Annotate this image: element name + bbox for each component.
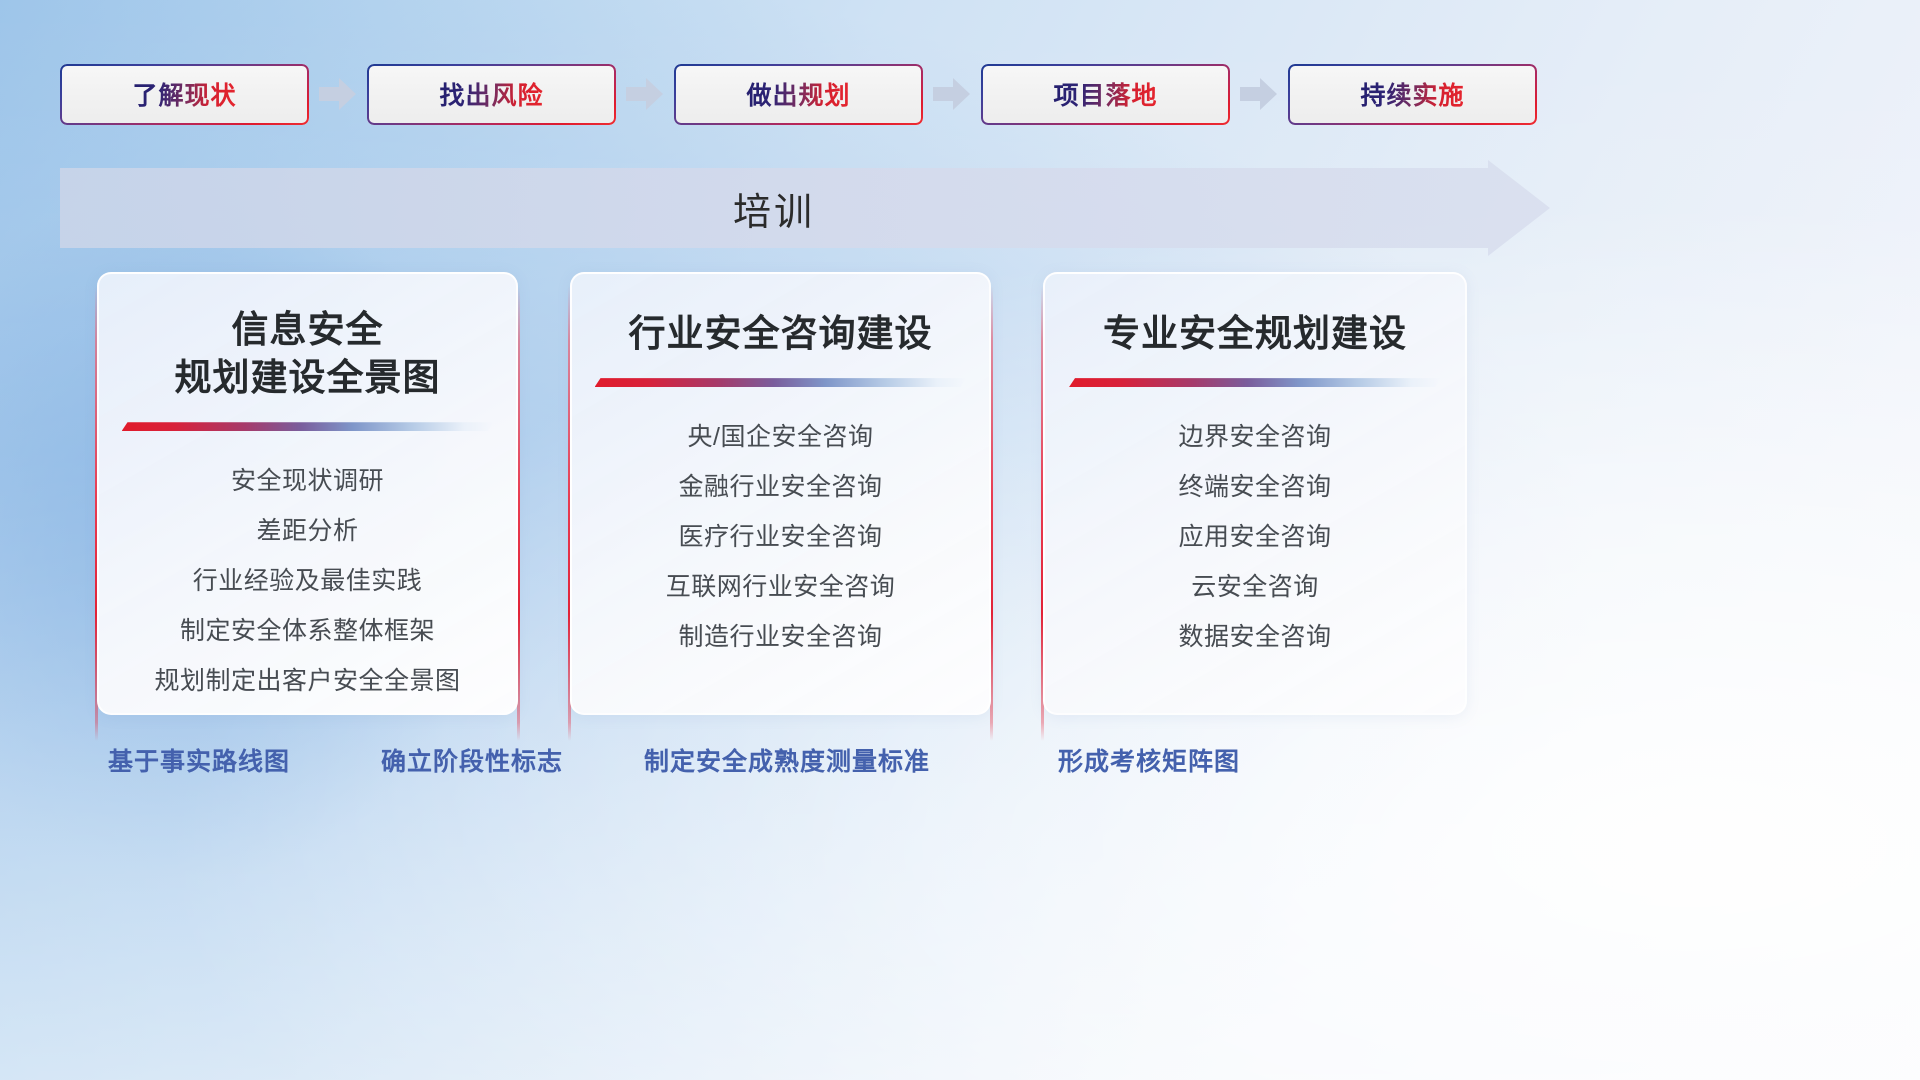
list-item: 应用安全咨询 [1178,517,1331,558]
step-label-1: 了解现状 [132,76,236,112]
card-title-line: 行业安全咨询建设 [629,310,933,358]
card-wrap-3: 专业安全规划建设 边界安全咨询 终端安全咨询 应用安全咨询 云安全咨询 数据安全… [1041,272,1469,717]
card-divider-1 [122,422,494,431]
card-list-2: 央/国企安全咨询 金融行业安全咨询 医疗行业安全咨询 互联网行业安全咨询 制造行… [666,417,896,658]
banner-title: 培训 [60,160,1488,256]
footer-label-row: 基于事实路线图 确立阶段性标志 制定安全成熟度测量标准 形成考核矩阵图 [0,742,1920,790]
step-box-1[interactable]: 了解现状 [60,64,309,125]
list-item: 云安全咨询 [1191,567,1319,608]
list-item: 金融行业安全咨询 [678,467,882,508]
list-item: 互联网行业安全咨询 [666,567,896,608]
step-box-5[interactable]: 持续实施 [1288,64,1537,125]
list-item: 规划制定出客户安全全景图 [154,661,460,702]
chevron-right-arrow-icon [319,77,357,111]
card-divider-2 [595,378,967,387]
list-item: 数据安全咨询 [1178,617,1331,658]
card-title-1: 信息安全 规划建设全景图 [175,306,441,402]
step-box-3[interactable]: 做出规划 [674,64,923,125]
chevron-right-arrow-icon [626,77,664,111]
chevron-right-arrow-icon [1240,77,1278,111]
step-label-5: 持续实施 [1360,76,1464,112]
card-title-line: 规划建设全景图 [175,354,441,402]
footer-label-1: 基于事实路线图 [108,742,290,778]
list-item: 行业经验及最佳实践 [193,561,423,602]
card-divider-3 [1069,378,1441,387]
step-label-3: 做出规划 [746,76,850,112]
list-item: 终端安全咨询 [1178,467,1331,508]
card-list-1: 安全现状调研 差距分析 行业经验及最佳实践 制定安全体系整体框架 规划制定出客户… [154,461,460,702]
card-1[interactable]: 信息安全 规划建设全景图 安全现状调研 差距分析 行业经验及最佳实践 制定安全体… [97,272,518,715]
step-box-2[interactable]: 找出风险 [367,64,616,125]
step-label-4: 项目落地 [1053,76,1157,112]
card-wrap-1: 信息安全 规划建设全景图 安全现状调研 差距分析 行业经验及最佳实践 制定安全体… [95,272,520,717]
list-item: 差距分析 [256,511,358,552]
card-3[interactable]: 专业安全规划建设 边界安全咨询 终端安全咨询 应用安全咨询 云安全咨询 数据安全… [1043,272,1467,715]
card-title-line: 专业安全规划建设 [1103,310,1407,358]
step-label-2: 找出风险 [439,76,543,112]
process-step-row: 了解现状 找出风险 做出规划 项目落地 持续实施 [60,63,1860,125]
card-list-3: 边界安全咨询 终端安全咨询 应用安全咨询 云安全咨询 数据安全咨询 [1178,417,1331,658]
list-item: 边界安全咨询 [1178,417,1331,458]
card-2[interactable]: 行业安全咨询建设 央/国企安全咨询 金融行业安全咨询 医疗行业安全咨询 互联网行… [570,272,991,715]
chevron-right-arrow-icon [933,77,971,111]
list-item: 央/国企安全咨询 [688,417,874,458]
list-item: 制造行业安全咨询 [678,617,882,658]
card-row: 信息安全 规划建设全景图 安全现状调研 差距分析 行业经验及最佳实践 制定安全体… [0,272,1920,717]
list-item: 制定安全体系整体框架 [180,611,435,652]
card-title-3: 专业安全规划建设 [1103,310,1407,358]
footer-label-2: 确立阶段性标志 [381,742,563,778]
card-wrap-2: 行业安全咨询建设 央/国企安全咨询 金融行业安全咨询 医疗行业安全咨询 互联网行… [568,272,993,717]
card-title-line: 信息安全 [175,306,441,354]
footer-label-3: 制定安全成熟度测量标准 [644,742,930,778]
list-item: 医疗行业安全咨询 [678,517,882,558]
footer-label-4: 形成考核矩阵图 [1058,742,1240,778]
training-banner: 培训 [60,160,1550,256]
step-box-4[interactable]: 项目落地 [981,64,1230,125]
list-item: 安全现状调研 [231,461,384,502]
card-title-2: 行业安全咨询建设 [629,310,933,358]
